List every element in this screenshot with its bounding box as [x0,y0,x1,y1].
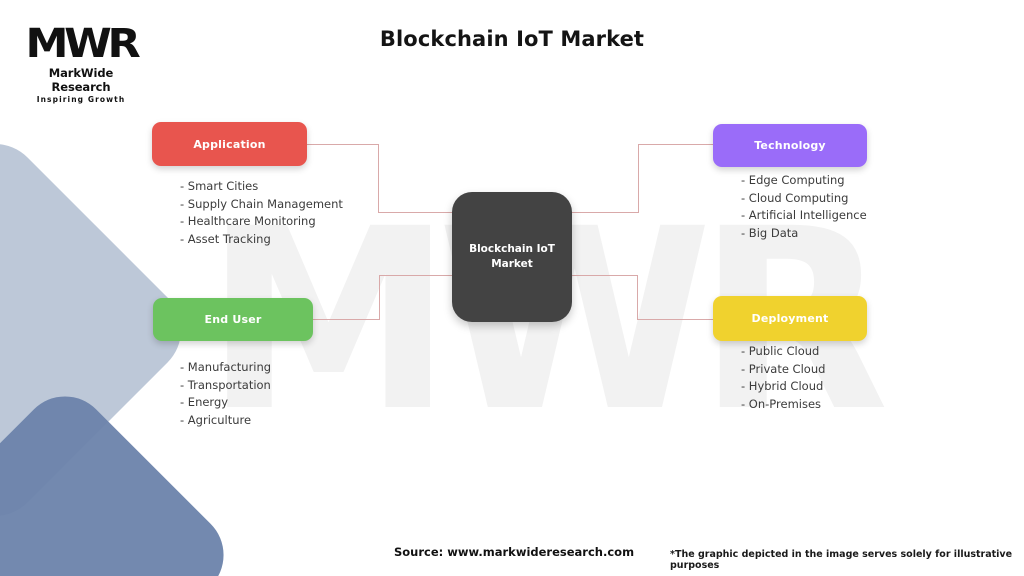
node-end-user-label: End User [204,313,261,326]
node-application[interactable]: Application [152,122,307,166]
list-item: - Edge Computing [741,172,867,190]
connector-enduser-horizontal-out [312,319,380,320]
list-end-user: - Manufacturing - Transportation - Energ… [180,359,271,429]
node-deployment[interactable]: Deployment [713,296,867,341]
connector-deployment-horizontal-out [637,319,714,320]
logo-company-name: MarkWide Research [22,66,140,94]
list-item: - Smart Cities [180,178,343,196]
list-application: - Smart Cities - Supply Chain Management… [180,178,343,248]
connector-enduser-vertical [379,275,380,320]
list-item: - Healthcare Monitoring [180,213,343,231]
list-item: - Manufacturing [180,359,271,377]
connector-application-vertical [378,144,379,213]
node-application-label: Application [193,138,265,151]
connector-technology-horizontal-out [638,144,714,145]
connector-application-horizontal-in [378,212,454,213]
list-item: - Big Data [741,225,867,243]
connector-application-horizontal-out [306,144,379,145]
list-item: - Transportation [180,377,271,395]
diagram-canvas: MWR MWR MarkWide Research Inspiring Grow… [0,0,1024,576]
list-item: - Supply Chain Management [180,196,343,214]
list-item: - Artificial Intelligence [741,207,867,225]
connector-technology-horizontal-in [570,212,639,213]
connector-enduser-horizontal-in [379,275,454,276]
list-item: - Asset Tracking [180,231,343,249]
list-technology: - Edge Computing - Cloud Computing - Art… [741,172,867,242]
node-end-user[interactable]: End User [153,298,313,341]
list-item: - Public Cloud [741,343,825,361]
connector-deployment-horizontal-in [570,275,638,276]
node-deployment-label: Deployment [752,312,829,325]
list-item: - On-Premises [741,396,825,414]
list-item: - Energy [180,394,271,412]
list-item: - Cloud Computing [741,190,867,208]
list-item: - Agriculture [180,412,271,430]
node-technology-label: Technology [754,139,826,152]
hub-node[interactable]: Blockchain IoT Market [452,192,572,322]
logo-tagline: Inspiring Growth [22,95,140,104]
list-deployment: - Public Cloud - Private Cloud - Hybrid … [741,343,825,413]
hub-node-label: Blockchain IoT Market [452,242,572,272]
connector-deployment-vertical [637,275,638,320]
page-title: Blockchain IoT Market [0,27,1024,51]
source-label: Source: www.markwideresearch.com [394,545,634,559]
node-technology[interactable]: Technology [713,124,867,167]
connector-technology-vertical [638,144,639,213]
list-item: - Private Cloud [741,361,825,379]
list-item: - Hybrid Cloud [741,378,825,396]
disclaimer-label: *The graphic depicted in the image serve… [670,549,1024,571]
